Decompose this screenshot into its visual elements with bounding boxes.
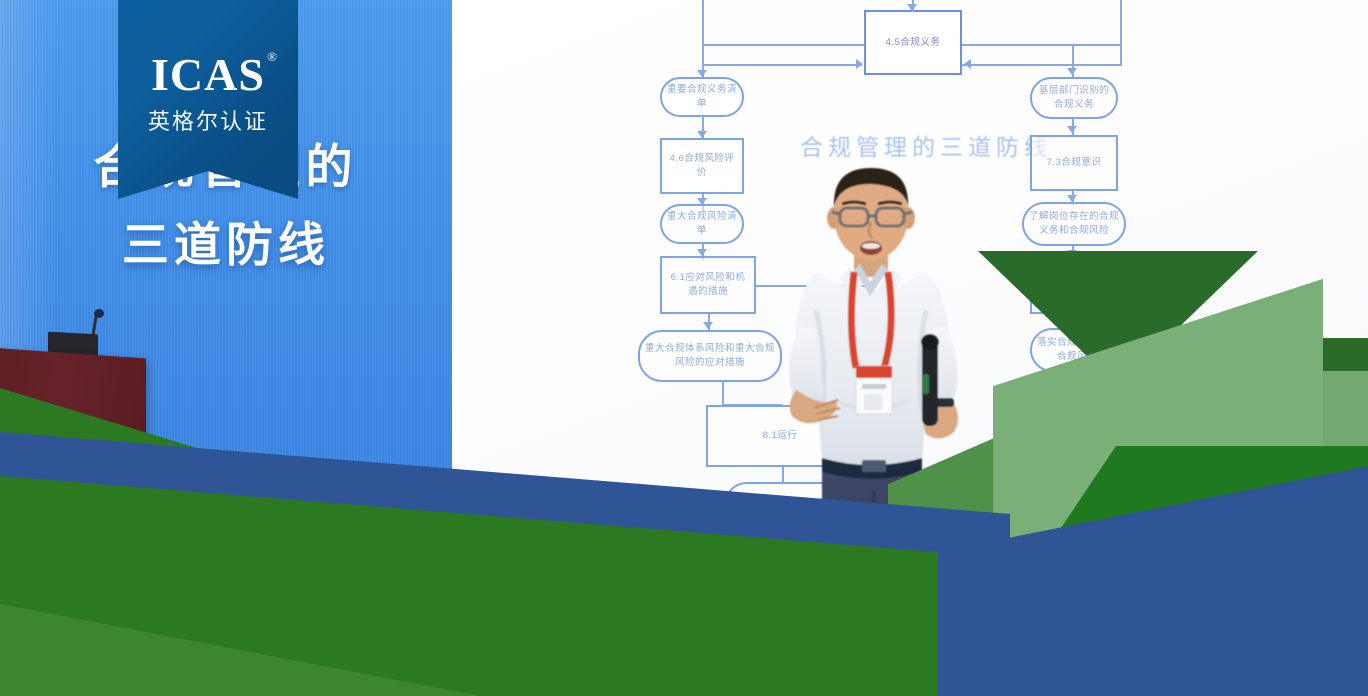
flow-connector [1120, 0, 1122, 64]
flow-connector [962, 44, 1120, 46]
flow-arrow-icon [907, 4, 917, 11]
banner-content: ICAS® 英格尔认证 [118, 52, 298, 136]
icas-wordmark: ICAS® [151, 52, 265, 98]
conference-photo-frame: 合规管理的三道防线 4.5合规义务 重要合规义务清单 4.6合规风险评价 重大合… [0, 0, 1368, 696]
flow-node-risk-response-measures: 6.1应对风险和机遇的措施 [660, 256, 756, 314]
flow-arrow-icon [856, 59, 863, 69]
flow-node-compliance-obligation: 4.5合规义务 [864, 10, 962, 75]
flow-node-dept-identified-obligation: 基层部门识别的合规义务 [1030, 77, 1118, 119]
icas-letters: ICAS [151, 49, 265, 100]
flow-arrow-icon [1067, 68, 1077, 75]
flow-node-major-system-risk-measures: 重大合规体系风险和重大合规风险的应对措施 [638, 330, 782, 382]
flow-node-major-risk-list: 重大合规风险清单 [660, 204, 744, 244]
flow-arrow-icon [1067, 126, 1077, 133]
flow-arrow-icon [697, 131, 707, 138]
icas-logo-banner: ICAS® 英格尔认证 [118, 0, 298, 199]
flow-node-compliance-awareness: 7.3合规意识 [1030, 135, 1118, 191]
flow-arrow-icon [964, 59, 971, 69]
flow-connector [702, 64, 862, 66]
flow-node-risk-evaluation: 4.6合规风险评价 [660, 138, 744, 194]
flow-arrow-icon [697, 70, 707, 77]
registered-trademark-icon: ® [267, 50, 278, 63]
microphone-head-icon [94, 309, 104, 318]
icas-chinese-name: 英格尔认证 [118, 104, 298, 136]
slide-title: 合规管理的三道防线 [800, 128, 1052, 162]
flow-node-key-obligation-list: 重要合规义务清单 [660, 77, 744, 117]
flow-node-understand-position-risks: 了解岗位存在的合规义务和合规风险 [1022, 202, 1126, 246]
flow-arrow-icon [1067, 195, 1077, 202]
panel-headline-bottom: 三道防线 [0, 206, 452, 275]
flow-connector [722, 382, 724, 404]
flow-arrow-icon [697, 249, 707, 256]
flow-arrow-icon [703, 322, 713, 329]
flow-connector [702, 44, 864, 46]
flow-connector [962, 64, 1122, 66]
